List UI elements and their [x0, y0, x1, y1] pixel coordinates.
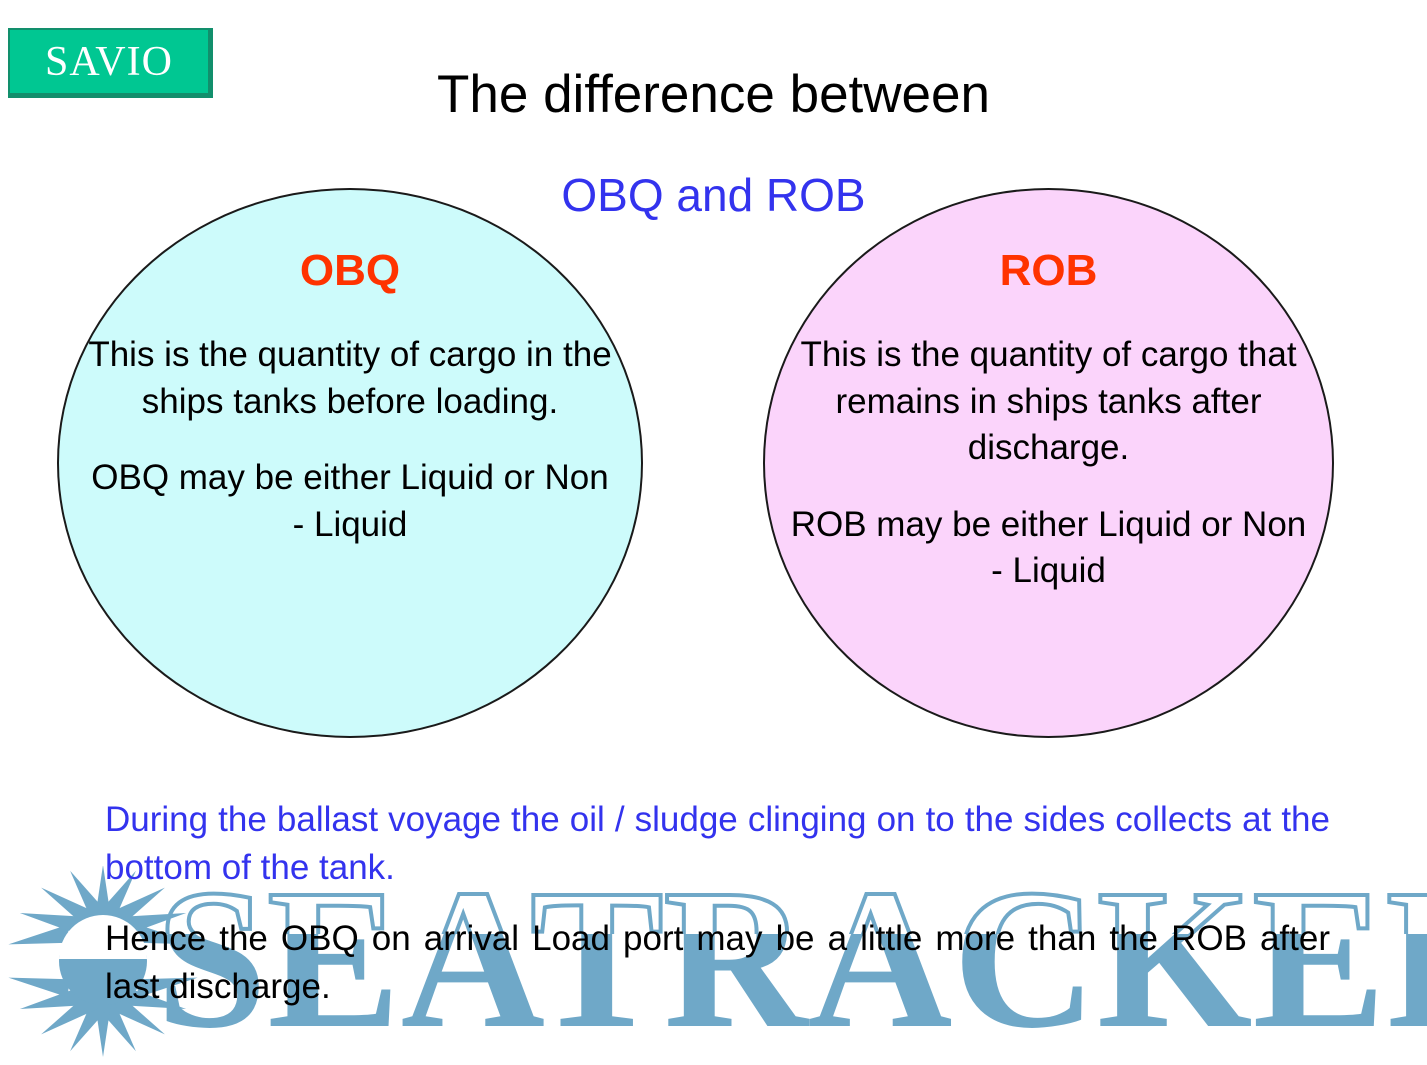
rob-paragraph-2: ROB may be either Liquid or Non - Liquid	[788, 502, 1310, 595]
ballast-note: During the ballast voyage the oil / slud…	[105, 796, 1330, 893]
rob-circle-content: ROB This is the quantity of cargo that r…	[788, 248, 1310, 595]
rob-paragraph-1: This is the quantity of cargo that remai…	[788, 332, 1310, 472]
obq-rob-note: Hence the OBQ on arrival Load port may b…	[105, 915, 1330, 1012]
obq-circle-content: OBQ This is the quantity of cargo in the…	[88, 248, 612, 548]
obq-paragraph-1: This is the quantity of cargo in the shi…	[88, 332, 612, 425]
slide-canvas: SAVIO The difference between OBQ and ROB…	[0, 0, 1427, 1065]
obq-paragraph-2: OBQ may be either Liquid or Non - Liquid	[88, 455, 612, 548]
obq-heading: OBQ	[88, 248, 612, 294]
rob-heading: ROB	[788, 248, 1310, 294]
obq-circle: OBQ This is the quantity of cargo in the…	[57, 188, 643, 738]
rob-circle: ROB This is the quantity of cargo that r…	[763, 188, 1334, 738]
page-title: The difference between	[0, 66, 1427, 124]
page-subtitle: OBQ and ROB	[0, 170, 1427, 221]
